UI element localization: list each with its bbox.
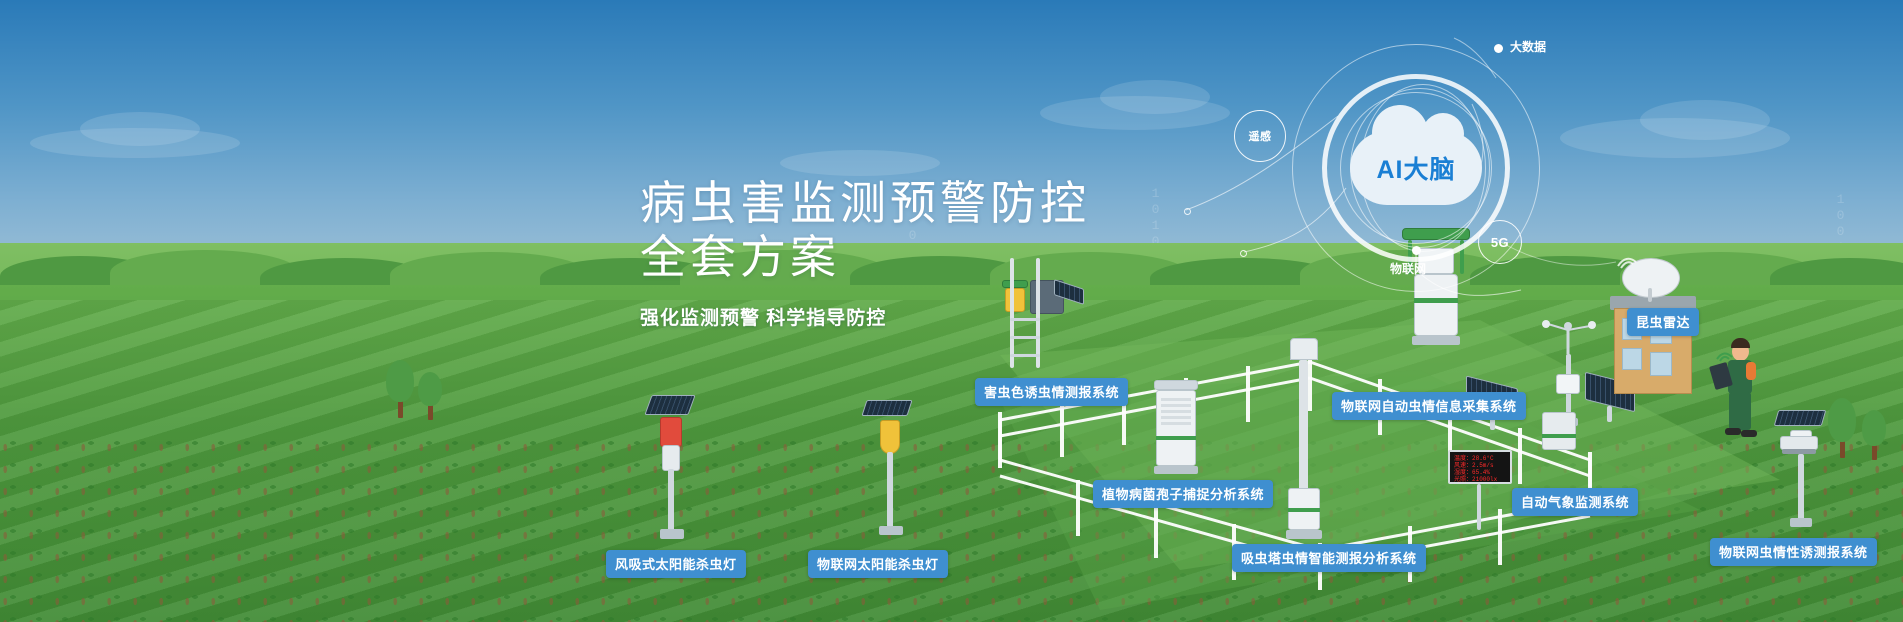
cabinet-vent [1161, 398, 1191, 428]
cabinet-top [1154, 380, 1198, 390]
device-iot-solar-insect-lamp[interactable] [860, 400, 920, 550]
trap-base [1790, 518, 1812, 527]
cabinet-base [1154, 466, 1198, 474]
headline-title: 病虫害监测预警防控 全套方案 [640, 176, 1090, 285]
label-iot-solar-insect-lamp[interactable]: 物联网太阳能杀虫灯 [808, 550, 948, 578]
node-5g-label: 5G [1491, 235, 1509, 250]
collector-base [1412, 336, 1460, 345]
led-display-pole [1477, 484, 1481, 530]
solar-panel [861, 400, 912, 416]
radar-mount [1648, 288, 1652, 302]
lamp-pole [668, 469, 674, 531]
ai-brain-label: AI大脑 [1350, 150, 1482, 186]
cloud-shape [1100, 80, 1210, 114]
node-remote-sensing-label: 遥感 [1249, 128, 1272, 144]
wifi-signal-icon [1614, 248, 1644, 272]
node-5g[interactable]: 5G [1478, 220, 1522, 264]
label-automatic-weather-monitoring-system[interactable]: 自动气象监测系统 [1512, 488, 1638, 516]
robot-body [1780, 436, 1818, 450]
tower-head [1290, 338, 1318, 360]
tower-base [1286, 530, 1322, 539]
device-suction-tower-pest-forecast-system[interactable] [1282, 338, 1326, 556]
led-line: 湿度：65.4% [1454, 469, 1506, 476]
lamp-pole [887, 452, 893, 528]
led-line: 光照：21000lx [1454, 476, 1506, 483]
led-line: 风速：2.5m/s [1454, 462, 1506, 469]
solar-panel [644, 395, 695, 415]
network-endpoint-dot [1184, 208, 1191, 215]
label-iot-automatic-pest-info-collection-system[interactable]: 物联网自动虫情信息采集系统 [1332, 392, 1526, 420]
label-insect-radar[interactable]: 昆虫雷达 [1627, 308, 1699, 336]
cloud-shape [80, 112, 200, 146]
node-iot-dot [1412, 246, 1421, 255]
node-bigdata-dot [1494, 44, 1503, 53]
ai-brain-network: AI大脑 遥感 大数据 5G 物联网 [1286, 38, 1546, 298]
node-bigdata-label: 大数据 [1510, 38, 1546, 55]
headline-line-2: 全套方案 [640, 231, 840, 283]
network-endpoint-dot [1240, 250, 1247, 257]
lamp-body [662, 445, 680, 471]
label-suction-tower-pest-forecast-system[interactable]: 吸虫塔虫情智能测报分析系统 [1232, 544, 1426, 572]
label-plant-pathogen-spore-capture-analysis-system[interactable]: 植物病菌孢子捕捉分析系统 [1093, 480, 1273, 508]
ground-monitoring-robot [1780, 430, 1820, 456]
device-plant-pathogen-spore-capture-analysis-system[interactable] [1148, 380, 1204, 480]
panel-pole [1607, 406, 1612, 422]
headline-subtitle: 强化监测预警 科学指导防控 [640, 303, 1090, 330]
lamp-head [660, 417, 682, 447]
tower-accent [1288, 508, 1320, 512]
pest-monitoring-banner: 0100101011010 101011101000101101 0100101… [0, 0, 1903, 622]
label-wind-suction-solar-insect-lamp[interactable]: 风吸式太阳能杀虫灯 [606, 550, 746, 578]
led-weather-display: 温度：28.6°C 风速：2.5m/s 湿度：65.4% 光照：21000lx [1448, 450, 1512, 484]
trap-pole [1798, 454, 1804, 520]
collector-accent [1414, 298, 1458, 303]
ladder-rung [1010, 354, 1040, 357]
weather-shield [1556, 374, 1580, 394]
cabinet-accent [1542, 434, 1576, 438]
device-wind-suction-solar-insect-lamp[interactable] [640, 395, 700, 545]
building-window [1650, 352, 1672, 376]
ai-brain-cloud-badge: AI大脑 [1350, 131, 1482, 205]
cloud-shape [1640, 100, 1770, 140]
node-iot-label: 物联网 [1390, 260, 1426, 277]
lamp-base [660, 529, 684, 539]
headline-block: 病虫害监测预警防控 全套方案 强化监测预警 科学指导防控 [640, 176, 1090, 330]
headline-line-1: 病虫害监测预警防控 [640, 177, 1090, 229]
label-pest-color-trap-forecast-system[interactable]: 害虫色诱虫情测报系统 [975, 378, 1128, 406]
lamp-base [879, 526, 903, 535]
cloud-shape [780, 150, 940, 176]
solar-panel [1774, 410, 1827, 426]
label-iot-pest-pheromone-trap-forecast-system[interactable]: 物联网虫情性诱测报系统 [1710, 538, 1877, 566]
node-remote-sensing[interactable]: 遥感 [1234, 110, 1286, 162]
device-weather-cabinet [1542, 412, 1578, 458]
ladder-rung [1010, 336, 1040, 339]
lamp-funnel [880, 420, 900, 454]
cabinet [1542, 412, 1576, 450]
robot-track [1782, 449, 1816, 454]
building-window [1622, 348, 1642, 370]
cabinet-accent [1156, 436, 1196, 440]
led-line: 温度：28.6°C [1454, 455, 1506, 462]
